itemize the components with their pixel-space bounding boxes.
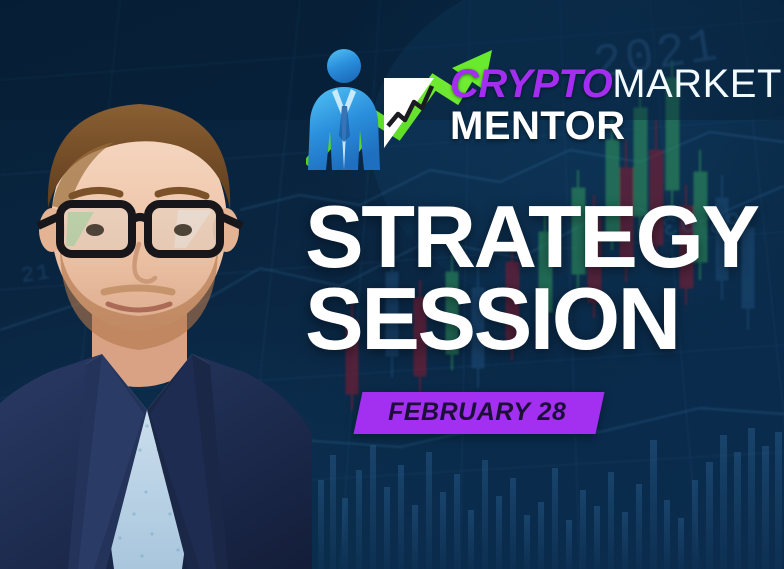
headline-line-two: SESSION xyxy=(305,278,775,360)
promo-banner: 2021 93 62 21 xyxy=(0,0,784,569)
logo-wordmark: CRYPTOMARKET MENTOR xyxy=(450,64,782,174)
logo-line-one: CRYPTOMARKET xyxy=(450,64,782,104)
logo-word-market: MARKET xyxy=(612,62,782,106)
date-badge-label: FEBRUARY 28 xyxy=(388,400,566,425)
crypto-market-mentor-logo: CRYPTOMARKET MENTOR xyxy=(306,44,782,174)
page-title: STRATEGY SESSION xyxy=(305,196,775,360)
logo-word-mentor: MENTOR xyxy=(450,106,782,146)
logo-word-crypto: CRYPTO xyxy=(450,62,612,106)
chart-triangle-icon xyxy=(384,78,434,148)
presenter-portrait xyxy=(0,58,312,569)
headline-line-one: STRATEGY xyxy=(305,196,775,278)
date-badge: FEBRUARY 28 xyxy=(354,392,605,434)
